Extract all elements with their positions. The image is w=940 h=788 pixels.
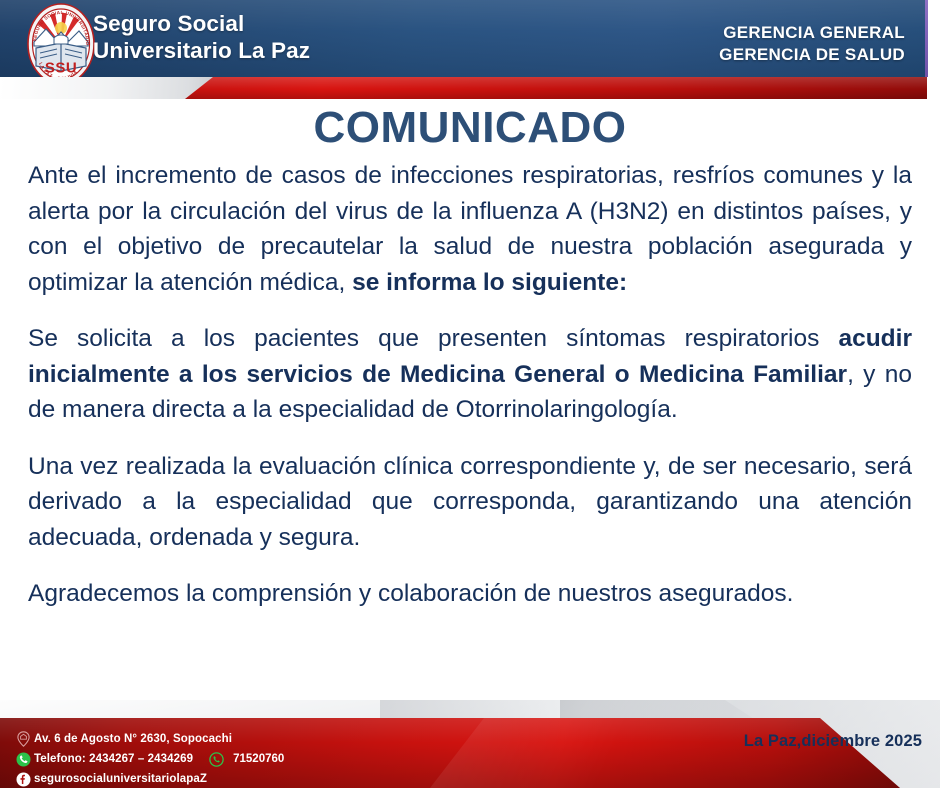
paragraph-p2: Se solicita a los pacientes que presente… — [28, 321, 912, 428]
department-title-line2: GERENCIA DE SALUD — [719, 44, 905, 66]
paragraph-p2-run-0: Se solicita a los pacientes que presente… — [28, 325, 838, 352]
department-title: GERENCIA GENERAL GERENCIA DE SALUD — [719, 22, 905, 66]
whatsapp-group: 71520760 — [205, 749, 284, 769]
contact-row-phone: Telefono: 2434267 – 2434269 71520760 — [12, 749, 532, 769]
page-header: SSU SEGURO SOCIAL UNIVERSITARIO LA PAZ -… — [0, 0, 927, 77]
contact-whatsapp: 71520760 — [233, 749, 284, 769]
contact-phone: Telefono: 2434267 – 2434269 — [34, 749, 193, 769]
paragraph-p3-run-0: Una vez realizada la evaluación clínica … — [28, 453, 912, 551]
contact-facebook: segurosocialuniversitariolapaZ — [34, 769, 207, 788]
communique-page: SSU SEGURO SOCIAL UNIVERSITARIO LA PAZ -… — [0, 0, 940, 788]
organization-title-line2: Universitario La Paz — [93, 37, 310, 64]
paragraph-p4-run-0: Agradecemos la comprensión y colaboració… — [28, 580, 793, 607]
contact-block: Av. 6 de Agosto N° 2630, Sopocachi Telef… — [12, 729, 532, 788]
page-title: COMUNICADO — [0, 103, 940, 153]
ssu-emblem-logo: SSU SEGURO SOCIAL UNIVERSITARIO LA PAZ -… — [24, 2, 98, 77]
header-color-band — [0, 77, 927, 99]
header-accent-edge — [925, 0, 928, 77]
organization-title-line1: Seguro Social — [93, 10, 310, 37]
whatsapp-icon — [205, 752, 227, 767]
location-pin-icon — [12, 731, 34, 747]
header-band-red — [185, 77, 927, 99]
paragraph-p1: Ante el incremento de casos de infeccion… — [28, 158, 912, 300]
paragraph-p1-run-1: se informa lo siguiente: — [352, 269, 627, 296]
document-body: Ante el incremento de casos de infeccion… — [28, 158, 912, 633]
paragraph-p4: Agradecemos la comprensión y colaboració… — [28, 576, 912, 612]
paragraph-p3: Una vez realizada la evaluación clínica … — [28, 449, 912, 556]
department-title-line1: GERENCIA GENERAL — [719, 22, 905, 44]
contact-row-address: Av. 6 de Agosto N° 2630, Sopocachi — [12, 729, 532, 749]
contact-address: Av. 6 de Agosto N° 2630, Sopocachi — [34, 729, 232, 749]
organization-title: Seguro Social Universitario La Paz — [93, 10, 310, 64]
phone-icon — [12, 752, 34, 767]
footer-date: La Paz,diciembre 2025 — [744, 732, 922, 751]
contact-row-facebook: segurosocialuniversitariolapaZ — [12, 769, 532, 788]
facebook-icon — [12, 772, 34, 787]
